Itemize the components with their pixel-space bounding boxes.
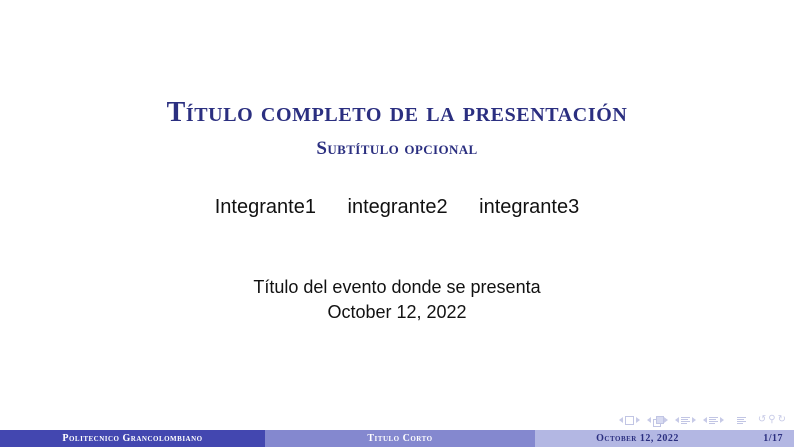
slide-footer: Politecnico Grancolombiano Titulo Corto … xyxy=(0,430,794,447)
slide-current-icon[interactable] xyxy=(625,416,634,425)
subsection-next-icon[interactable] xyxy=(692,417,696,423)
frame-next-icon[interactable] xyxy=(664,417,668,423)
event-name: Título del evento donde se presenta xyxy=(0,275,794,300)
history-navigation-group[interactable]: ↺ ⚲ ↻ xyxy=(758,415,786,425)
event-block: Título del evento donde se presenta Octo… xyxy=(0,275,794,325)
section-navigation-group[interactable] xyxy=(703,416,724,425)
page-title: Título completo de la presentación xyxy=(0,96,794,129)
footer-short-title: Titulo Corto xyxy=(265,430,535,447)
footer-right-section: October 12, 2022 1/17 xyxy=(535,430,794,447)
footer-institute: Politecnico Grancolombiano xyxy=(0,430,265,447)
slide-next-icon[interactable] xyxy=(636,417,640,423)
beamer-navigation-bar[interactable]: ↺ ⚲ ↻ xyxy=(619,412,786,428)
subsection-current-icon[interactable] xyxy=(681,416,690,425)
author-name: integrante3 xyxy=(479,196,579,219)
section-prev-icon[interactable] xyxy=(703,417,707,423)
subsection-prev-icon[interactable] xyxy=(675,417,679,423)
document-lines-icon[interactable] xyxy=(737,416,746,425)
subsection-navigation-group[interactable] xyxy=(675,416,696,425)
author-list: Integrante1 integrante2 integrante3 xyxy=(0,196,794,219)
slide-prev-icon[interactable] xyxy=(619,417,623,423)
title-block: Título completo de la presentación Subtí… xyxy=(0,96,794,161)
search-icon[interactable]: ⚲ xyxy=(768,415,775,425)
frame-current-icon[interactable] xyxy=(653,416,662,425)
forward-arrow-icon[interactable]: ↻ xyxy=(778,415,786,425)
back-arrow-icon[interactable]: ↺ xyxy=(758,415,766,425)
footer-date: October 12, 2022 xyxy=(535,433,740,444)
event-date: October 12, 2022 xyxy=(0,300,794,325)
frame-prev-icon[interactable] xyxy=(647,417,651,423)
frame-navigation-group[interactable] xyxy=(647,416,668,425)
section-current-icon[interactable] xyxy=(709,416,718,425)
author-name: integrante2 xyxy=(348,196,448,219)
author-name: Integrante1 xyxy=(215,196,316,219)
slide-navigation-group[interactable] xyxy=(619,416,640,425)
presentation-slide: Título completo de la presentación Subtí… xyxy=(0,0,794,447)
page-subtitle: Subtítulo opcional xyxy=(0,138,794,161)
footer-page-number: 1/17 xyxy=(763,433,783,444)
section-next-icon[interactable] xyxy=(720,417,724,423)
